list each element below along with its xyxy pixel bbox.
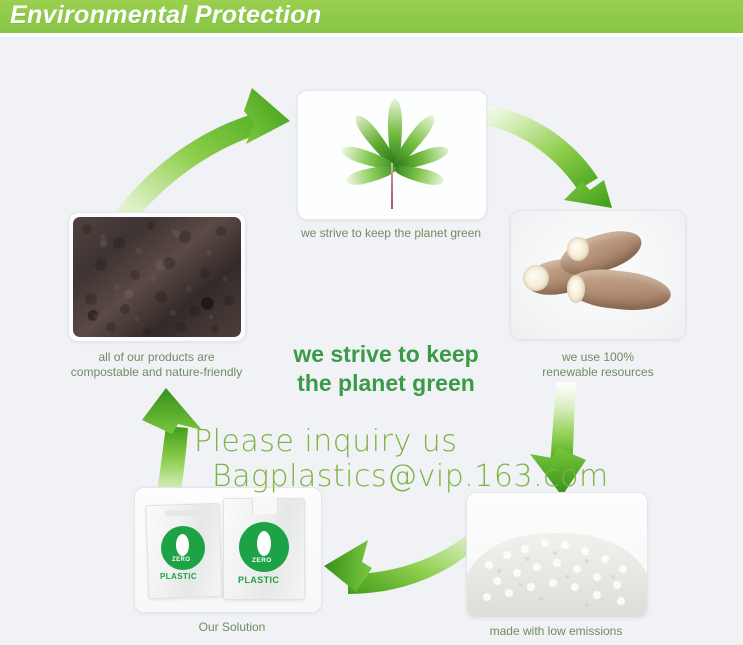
header-banner: Environmental Protection: [0, 0, 743, 33]
arrow-pellets-to-bags-icon: [294, 512, 490, 622]
bags-caption: Our Solution: [162, 620, 302, 635]
badge-zero-label: ZERO: [172, 557, 190, 563]
zero-plastic-bags-photo: ZERO PLASTIC ZERO PLASTIC: [135, 488, 321, 612]
inquiry-prompt: Please inquiry us: [186, 424, 606, 459]
zero-plastic-badge-left: ZERO: [161, 526, 205, 570]
pellets-texture: [467, 493, 647, 617]
leaf-stem: [391, 163, 393, 209]
compost-texture: [73, 217, 241, 337]
badge-zero-digit: [257, 531, 271, 556]
badge-plastic-label-left: PLASTIC: [160, 572, 197, 581]
compost-card[interactable]: [68, 212, 246, 342]
white-starch-pellets-photo: [467, 493, 647, 617]
pellets-card[interactable]: [466, 492, 648, 618]
pellets-caption: made with low emissions: [463, 624, 649, 639]
inquiry-block: Please inquiry us Bagplastics@vip.163.co…: [186, 424, 606, 494]
bag-vest-notch: [252, 498, 278, 514]
bag-handle-slot: [165, 509, 201, 516]
badge-zero-label: ZERO: [252, 557, 272, 564]
cassava-roots-photo: [511, 211, 685, 339]
badge-zero-digit: [176, 534, 189, 556]
page-title: Environmental Protection: [10, 1, 321, 30]
environmental-protection-infographic: Environmental Protection: [0, 0, 743, 645]
header-divider: [0, 33, 743, 37]
leaf-caption: we strive to keep the planet green: [282, 226, 500, 241]
leaf-card[interactable]: [297, 90, 487, 220]
bags-card[interactable]: ZERO PLASTIC ZERO PLASTIC: [134, 487, 322, 613]
inquiry-email[interactable]: Bagplastics@vip.163.com: [186, 459, 606, 494]
compost-caption: all of our products are compostable and …: [54, 350, 259, 380]
center-slogan: we strive to keep the planet green: [272, 340, 500, 398]
compost-soil-photo: [73, 217, 241, 337]
cassava-caption: we use 100% renewable resources: [527, 350, 669, 380]
cassava-leaf-photo: [298, 91, 486, 219]
zero-plastic-badge-right: ZERO: [239, 522, 289, 572]
cassava-card[interactable]: [510, 210, 686, 340]
badge-plastic-label-right: PLASTIC: [238, 575, 279, 585]
